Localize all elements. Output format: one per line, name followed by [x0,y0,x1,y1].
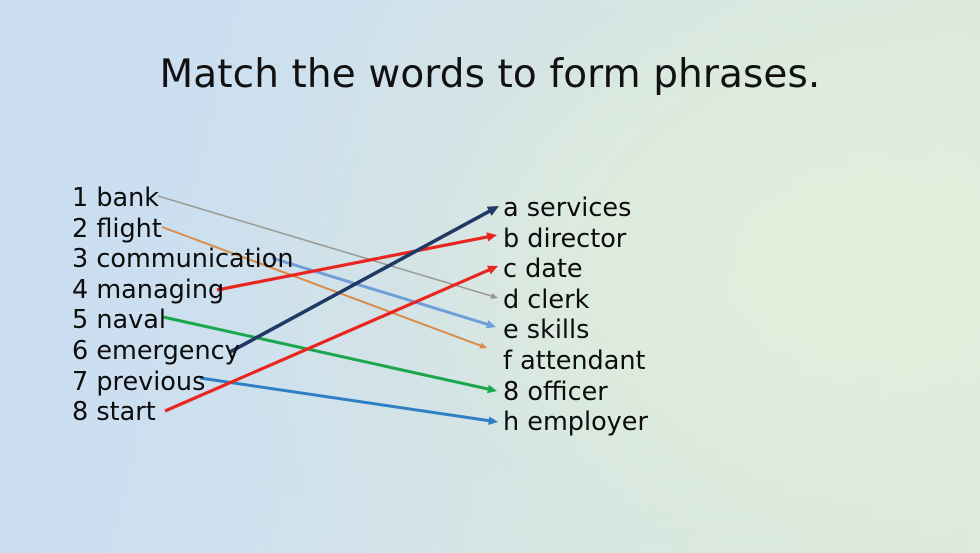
list-item: 7 previous [72,367,294,398]
arrowhead-start-to-date [487,266,498,275]
list-item: 6 emergency [72,336,294,367]
list-item: 2 flight [72,214,294,245]
list-item: 1 bank [72,183,294,214]
list-item: c date [503,254,648,285]
page-title: Match the words to form phrases. [0,52,980,98]
list-item: f attendant [503,346,648,377]
arrowhead-naval-to-officer [487,385,497,393]
list-item: a services [503,193,648,224]
list-item: e skills [503,315,648,346]
list-item: 8 officer [503,377,648,408]
slide-canvas: Match the words to form phrases. 1 bank … [0,0,980,553]
list-item: 3 communication [72,244,294,275]
arrowhead-flight-to-attendant [479,343,487,349]
arrowhead-bank-to-clerk [490,293,498,299]
arrowhead-previous-to-employer [488,416,498,425]
arrowhead-emergency-to-services [487,206,499,216]
left-column: 1 bank 2 flight 3 communication 4 managi… [72,183,294,428]
list-item: b director [503,224,648,255]
arrowhead-communication-to-skills [486,320,496,328]
list-item: d clerk [503,285,648,316]
list-item: 4 managing [72,275,294,306]
list-item: 5 naval [72,305,294,336]
list-item: 8 start [72,397,294,428]
arrowhead-managing-to-director [486,232,497,241]
right-column: a services b director c date d clerk e s… [503,193,648,438]
connector-communication-to-skills [272,258,491,325]
list-item: h employer [503,407,648,438]
